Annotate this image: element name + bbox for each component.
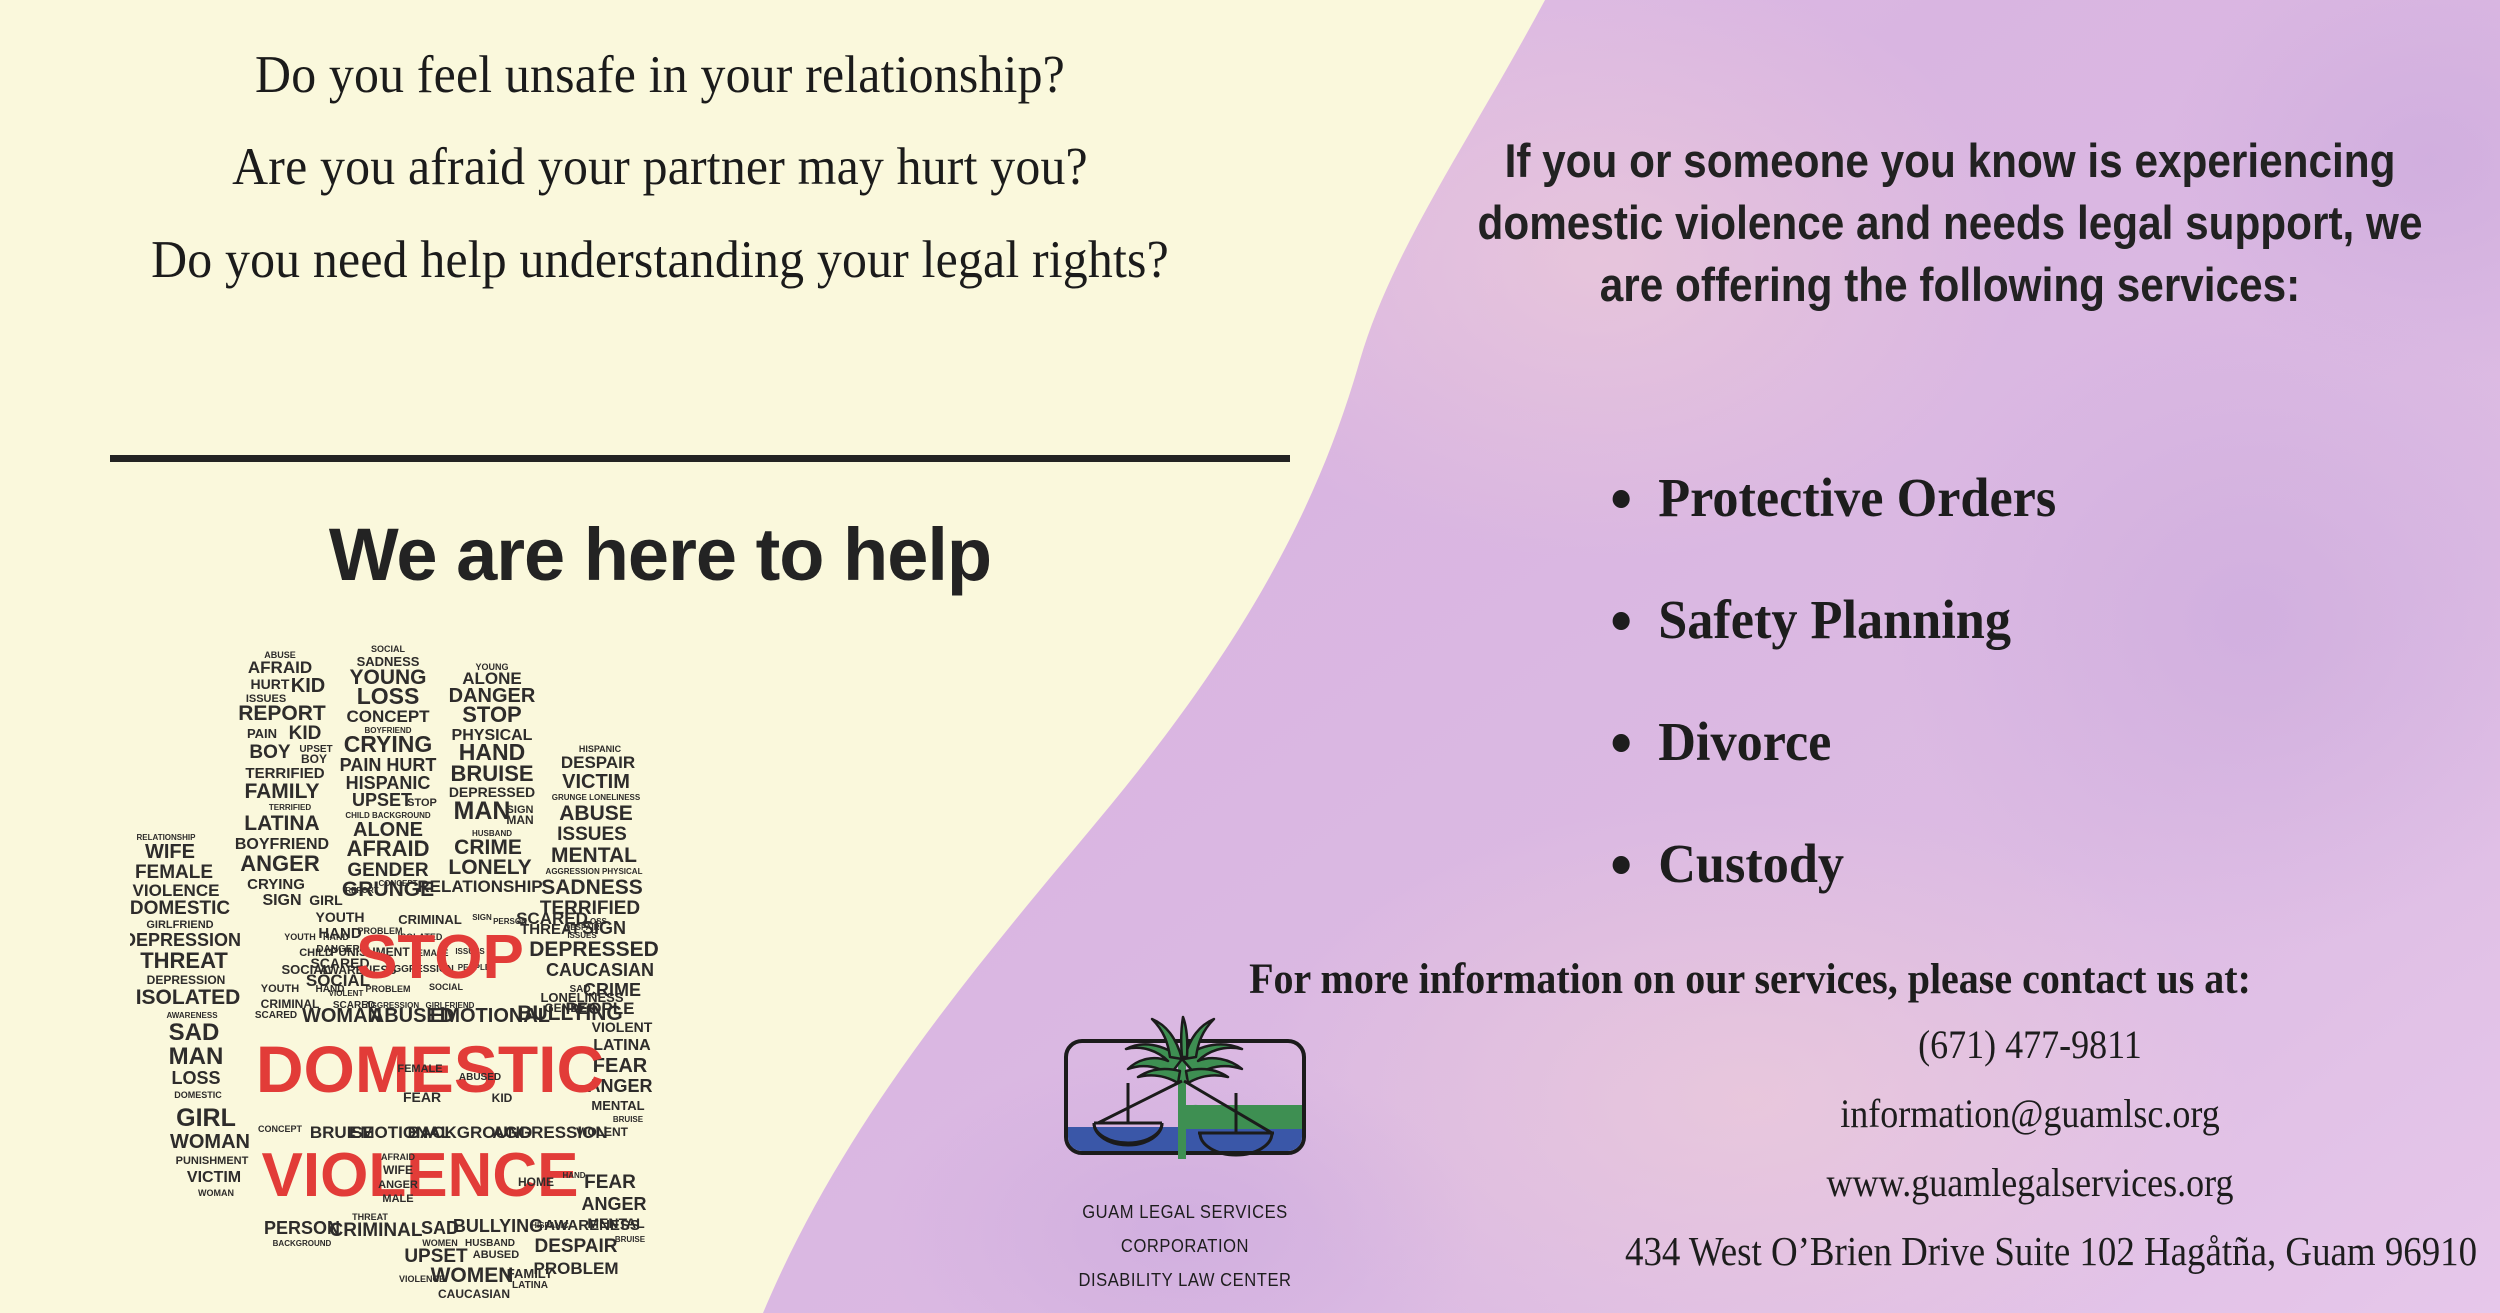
svg-text:AFRAID: AFRAID bbox=[346, 836, 429, 861]
svg-text:PAIN HURT: PAIN HURT bbox=[340, 755, 437, 775]
svg-text:HURT: HURT bbox=[251, 676, 290, 692]
svg-text:AWARENESS: AWARENESS bbox=[544, 1217, 640, 1234]
svg-text:FEMALE: FEMALE bbox=[397, 1063, 442, 1075]
svg-text:MENTAL: MENTAL bbox=[551, 844, 637, 867]
svg-text:SAD: SAD bbox=[169, 1019, 220, 1046]
svg-text:VIOLENT: VIOLENT bbox=[576, 1125, 629, 1139]
svg-text:LOSS: LOSS bbox=[585, 917, 607, 926]
contact-address: 434 West O’Brien Drive Suite 102 Hagåtña… bbox=[1625, 1231, 2435, 1273]
svg-text:BRUISE: BRUISE bbox=[450, 761, 533, 786]
svg-text:CAUCASIAN: CAUCASIAN bbox=[546, 960, 654, 980]
logo-organization: GUAM LEGAL SERVICES CORPORATION bbox=[1033, 1195, 1337, 1263]
svg-text:STOP: STOP bbox=[462, 702, 522, 727]
svg-text:FAMILY: FAMILY bbox=[244, 780, 319, 803]
svg-text:KID: KID bbox=[492, 1091, 513, 1105]
svg-text:THREAT: THREAT bbox=[140, 948, 228, 973]
svg-text:DEPRESSION: DEPRESSION bbox=[147, 973, 226, 987]
right-panel: If you or someone you know is experienci… bbox=[1390, 0, 2500, 1313]
svg-text:AGGRESSION PHYSICAL: AGGRESSION PHYSICAL bbox=[546, 867, 643, 876]
service-item-protective-orders: Protective Orders bbox=[1605, 470, 2365, 525]
svg-text:VIOLENCE: VIOLENCE bbox=[399, 1274, 445, 1284]
contact-email[interactable]: information@guamlsc.org bbox=[1625, 1094, 2435, 1135]
bullet-icon bbox=[1613, 856, 1630, 874]
logo-caption: GUAM LEGAL SERVICES CORPORATION DISABILI… bbox=[1033, 1195, 1337, 1298]
svg-text:YOUTH: YOUTH bbox=[284, 932, 316, 942]
service-label: Custody bbox=[1658, 833, 1844, 894]
svg-text:GRUNGE LONELINESS: GRUNGE LONELINESS bbox=[552, 793, 641, 802]
contact-website[interactable]: www.guamlegalservices.org bbox=[1625, 1163, 2435, 1204]
horizontal-divider bbox=[110, 455, 1290, 462]
svg-text:VICTIM: VICTIM bbox=[562, 771, 630, 793]
svg-text:ISSUES: ISSUES bbox=[557, 824, 627, 845]
contact-details: (671) 477-9811 information@guamlsc.org w… bbox=[1580, 1025, 2480, 1273]
svg-text:GIRL: GIRL bbox=[309, 892, 343, 908]
question-block: Do you feel unsafe in your relationship?… bbox=[40, 38, 1280, 315]
svg-text:ABUSED: ABUSED bbox=[459, 1072, 501, 1083]
svg-text:PUNISHMENT: PUNISHMENT bbox=[176, 1155, 249, 1167]
service-label: Safety Planning bbox=[1658, 589, 2011, 650]
svg-text:DESPAIR: DESPAIR bbox=[561, 753, 635, 772]
bullet-icon bbox=[1613, 612, 1630, 630]
svg-text:TERRIFIED: TERRIFIED bbox=[269, 803, 311, 812]
svg-text:REPORT: REPORT bbox=[345, 886, 378, 895]
svg-text:DOMESTIC: DOMESTIC bbox=[174, 1090, 222, 1100]
service-item-custody: Custody bbox=[1605, 836, 2365, 891]
svg-text:WIFE: WIFE bbox=[145, 841, 195, 863]
help-heading: We are here to help bbox=[40, 512, 1280, 597]
svg-text:ANGER: ANGER bbox=[378, 1179, 418, 1191]
svg-text:LATINA: LATINA bbox=[244, 812, 319, 835]
svg-text:CRYING: CRYING bbox=[344, 731, 433, 757]
question-line-1: Do you feel unsafe in your relationship? bbox=[77, 38, 1243, 113]
svg-text:ANGER: ANGER bbox=[581, 1194, 646, 1214]
svg-text:UPSET: UPSET bbox=[352, 790, 412, 810]
svg-text:BOY: BOY bbox=[249, 742, 291, 763]
svg-text:HUSBAND: HUSBAND bbox=[465, 1238, 515, 1249]
svg-text:LATINA: LATINA bbox=[512, 1280, 548, 1291]
organization-logo: GUAM LEGAL SERVICES CORPORATION DISABILI… bbox=[1020, 1015, 1350, 1298]
svg-text:DOMESTIC: DOMESTIC bbox=[130, 898, 230, 919]
bullet-icon bbox=[1613, 734, 1630, 752]
svg-text:DANGER: DANGER bbox=[316, 944, 360, 955]
service-label: Divorce bbox=[1658, 711, 1831, 772]
svg-text:SIGN: SIGN bbox=[262, 892, 301, 909]
svg-text:GIRLFRIEND: GIRLFRIEND bbox=[426, 1001, 475, 1010]
svg-text:ABUSED: ABUSED bbox=[473, 1249, 520, 1261]
question-line-2: Are you afraid your partner may hurt you… bbox=[77, 130, 1243, 205]
svg-text:SOCIAL: SOCIAL bbox=[371, 644, 406, 654]
svg-text:ABUSE: ABUSE bbox=[559, 802, 633, 825]
svg-text:GIRL: GIRL bbox=[176, 1104, 236, 1132]
svg-text:WOMAN: WOMAN bbox=[198, 1188, 234, 1198]
svg-text:CRIMINAL: CRIMINAL bbox=[330, 1220, 423, 1241]
svg-text:BRUISE: BRUISE bbox=[615, 1235, 646, 1244]
wordcloud-hand-graphic: ABUSE AFRAID HURTKID ISSUES REPORT PAINK… bbox=[130, 640, 700, 1300]
svg-text:MAN: MAN bbox=[454, 797, 511, 825]
service-item-safety-planning: Safety Planning bbox=[1605, 592, 2365, 647]
svg-text:REPORT: REPORT bbox=[238, 702, 326, 725]
svg-text:AGGRESSION: AGGRESSION bbox=[365, 1001, 419, 1010]
svg-text:ISOLATED: ISOLATED bbox=[136, 986, 241, 1009]
services-list: Protective Orders Safety Planning Divorc… bbox=[1605, 470, 2405, 958]
svg-text:DEPRESSED: DEPRESSED bbox=[529, 938, 659, 961]
logo-department: DISABILITY LAW CENTER bbox=[1033, 1263, 1337, 1297]
svg-text:DEPRESSION: DEPRESSION bbox=[130, 930, 241, 950]
svg-text:MALE: MALE bbox=[382, 1193, 413, 1205]
svg-text:FEMALE: FEMALE bbox=[135, 862, 213, 883]
svg-text:FAMILY: FAMILY bbox=[507, 1266, 554, 1281]
svg-text:PAIN: PAIN bbox=[247, 726, 277, 741]
svg-text:MAN: MAN bbox=[169, 1043, 224, 1070]
svg-text:STOP: STOP bbox=[407, 797, 437, 809]
svg-text:KID: KID bbox=[289, 723, 322, 744]
svg-text:AFRAID: AFRAID bbox=[381, 1152, 415, 1162]
svg-text:CONCEPT: CONCEPT bbox=[346, 707, 430, 726]
service-item-divorce: Divorce bbox=[1605, 714, 2365, 769]
svg-text:THREAT: THREAT bbox=[352, 1212, 388, 1222]
contact-heading: For more information on our services, pl… bbox=[1090, 955, 2411, 1004]
svg-text:KID: KID bbox=[291, 675, 325, 697]
svg-text:ANGER: ANGER bbox=[240, 851, 320, 876]
svg-text:HOME: HOME bbox=[518, 1175, 554, 1189]
poster-canvas: Do you feel unsafe in your relationship?… bbox=[0, 0, 2500, 1313]
svg-text:SIGN: SIGN bbox=[472, 913, 492, 922]
svg-text:WIFE: WIFE bbox=[383, 1163, 413, 1177]
svg-text:LOSS: LOSS bbox=[171, 1068, 220, 1088]
svg-text:FEAR: FEAR bbox=[584, 1172, 636, 1193]
svg-text:RELATIONSHIP: RELATIONSHIP bbox=[417, 877, 542, 896]
svg-text:CAUCASIAN: CAUCASIAN bbox=[438, 1287, 510, 1300]
svg-text:GENDER: GENDER bbox=[544, 1001, 596, 1015]
svg-text:LOSS: LOSS bbox=[357, 683, 420, 709]
svg-text:WOMAN: WOMAN bbox=[170, 1131, 250, 1153]
svg-text:YOUTH: YOUTH bbox=[261, 983, 300, 995]
svg-text:CRYING: CRYING bbox=[247, 876, 305, 893]
service-label: Protective Orders bbox=[1658, 467, 2056, 528]
svg-text:BRUISE: BRUISE bbox=[613, 1115, 644, 1124]
svg-text:FEAR: FEAR bbox=[403, 1089, 441, 1105]
svg-text:HAND: HAND bbox=[562, 1171, 585, 1180]
svg-text:BULLYING: BULLYING bbox=[453, 1216, 543, 1236]
svg-text:SADNESS: SADNESS bbox=[541, 876, 643, 899]
palm-scales-logo-icon bbox=[1058, 1015, 1313, 1195]
intro-paragraph: If you or someone you know is experienci… bbox=[1464, 130, 2436, 316]
svg-text:LONELY: LONELY bbox=[448, 856, 531, 879]
svg-text:DESPAIR: DESPAIR bbox=[534, 1236, 617, 1257]
svg-text:MAN: MAN bbox=[506, 813, 533, 827]
svg-text:SCARED: SCARED bbox=[516, 909, 588, 928]
svg-text:BOY: BOY bbox=[301, 752, 327, 766]
svg-text:STOP: STOP bbox=[356, 923, 524, 992]
contact-phone[interactable]: (671) 477-9811 bbox=[1625, 1025, 2435, 1066]
svg-text:CONCEPT: CONCEPT bbox=[378, 879, 417, 888]
svg-text:CONCEPT: CONCEPT bbox=[258, 1124, 303, 1134]
svg-text:BACKGROUND: BACKGROUND bbox=[273, 1239, 332, 1248]
svg-text:SCARED: SCARED bbox=[255, 1010, 297, 1021]
svg-text:VICTIM: VICTIM bbox=[187, 1169, 241, 1186]
bullet-icon bbox=[1613, 490, 1630, 508]
question-line-3: Do you need help understanding your lega… bbox=[77, 223, 1243, 298]
